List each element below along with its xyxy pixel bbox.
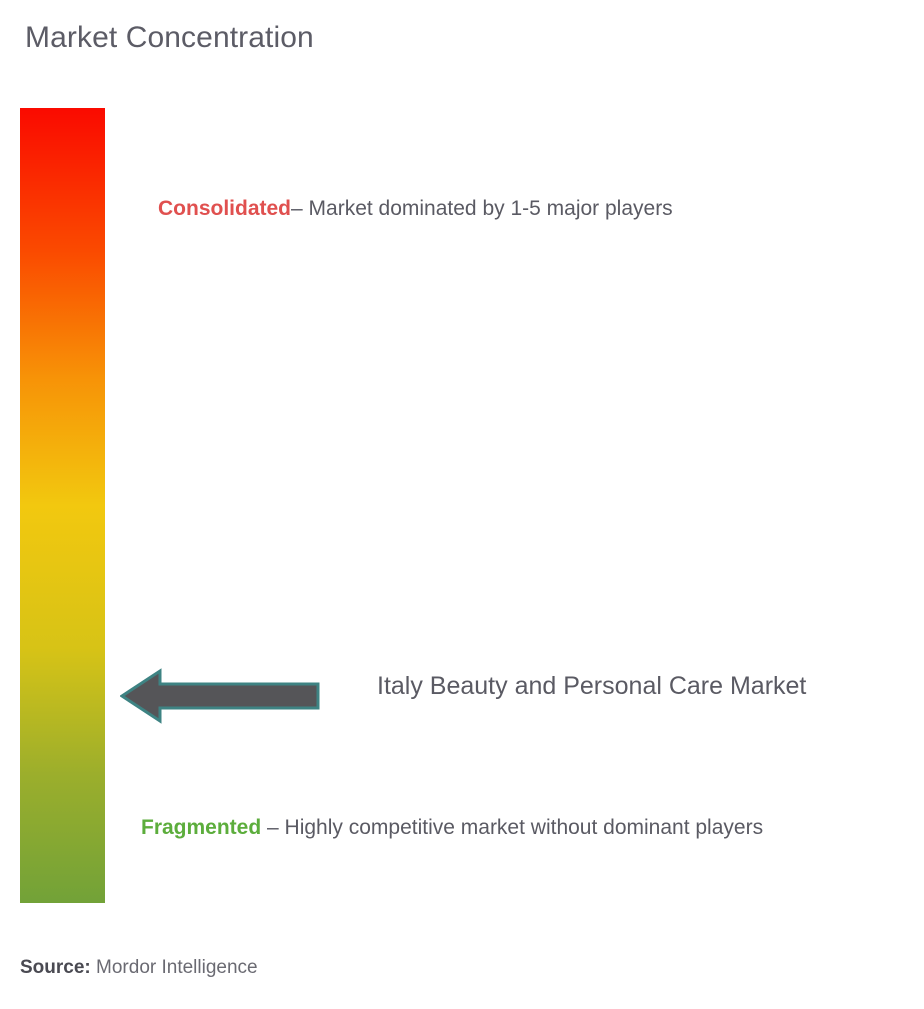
market-name-label: Italy Beauty and Personal Care Market xyxy=(377,668,806,704)
annotation-fragmented: Fragmented – Highly competitive market w… xyxy=(141,801,896,854)
concentration-gradient-bar xyxy=(20,108,105,903)
arrow-left-icon xyxy=(120,668,320,724)
source-label: Source: xyxy=(20,957,91,978)
fragmented-term: Fragmented xyxy=(141,816,261,839)
consolidated-description: – Market dominated by 1-5 major players xyxy=(291,197,673,220)
source-value: Mordor Intelligence xyxy=(91,957,258,978)
source-footer: Source: Mordor Intelligence xyxy=(20,955,258,981)
fragmented-description: – Highly competitive market without domi… xyxy=(261,816,763,839)
annotation-consolidated: Consolidated– Market dominated by 1-5 ma… xyxy=(158,193,898,225)
market-concentration-chart: Market Concentration Consolidated– Marke… xyxy=(0,0,924,1009)
market-position-arrow xyxy=(120,668,320,724)
consolidated-term: Consolidated xyxy=(158,197,291,220)
page-title: Market Concentration xyxy=(25,20,314,56)
